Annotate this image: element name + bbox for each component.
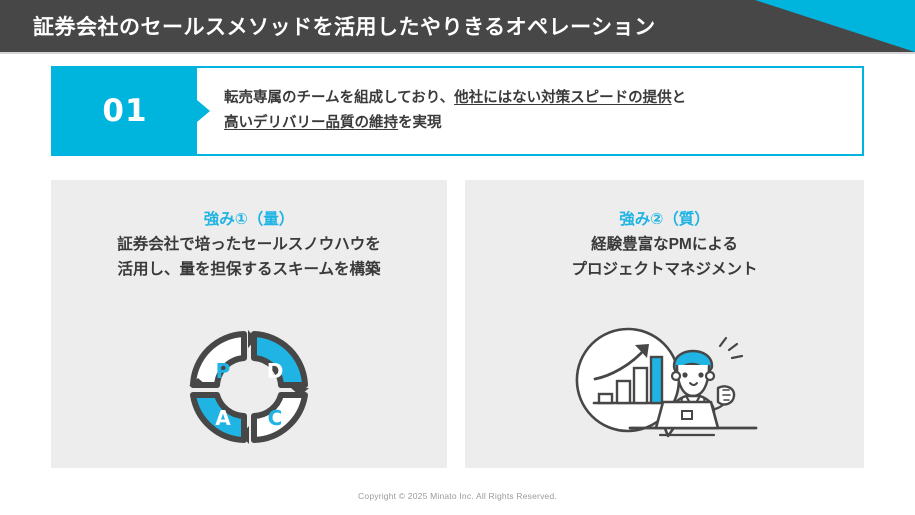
header-divider [0,52,915,54]
lead-line2-underlined: 高いデリバリー品質の維持 [224,115,398,131]
strength-card-2: 強み②（質） 経験豊富なPMによる プロジェクトマネジメント [465,180,864,468]
lead-line2-plain: を実現 [398,115,442,131]
pdca-cycle-icon: P D C A [187,328,311,446]
strength-card-1-body-line-2: 活用し、量を担保するスキームを構築 [51,257,447,282]
lead-callout-box: 01 転売専属のチームを組成しており、他社にはない対策スピードの提供と 高いデリ… [51,66,864,156]
lead-arrow-icon [197,100,210,122]
lead-number-label: 01 [102,96,147,127]
lead-line1-plain-b: と [672,90,687,106]
footer-copyright: Copyright © 2025 Minato Inc. All Rights … [0,491,915,501]
lead-number-badge: 01 [53,68,197,154]
header-bar: 証券会社のセールスメソッドを活用したやりきるオペレーション [0,0,915,52]
pdca-letter-d: D [267,359,284,383]
strength-card-1-art: P D C A [51,328,447,446]
strength-card-2-body: 経験豊富なPMによる プロジェクトマネジメント [465,232,864,282]
pdca-letter-c: C [268,406,283,430]
strength-card-2-heading: 強み②（質） [465,209,864,231]
lead-text-line-2: 高いデリバリー品質の維持を実現 [224,111,852,136]
strength-card-1-body: 証券会社で培ったセールスノウハウを 活用し、量を担保するスキームを構築 [51,232,447,282]
lead-text-line-1: 転売専属のチームを組成しており、他社にはない対策スピードの提供と [224,86,852,111]
strength-card-1: 強み①（量） 証券会社で培ったセールスノウハウを 活用し、量を担保するスキームを… [51,180,447,468]
pdca-letter-p: P [216,359,231,383]
page-title: 証券会社のセールスメソッドを活用したやりきるオペレーション [33,0,656,52]
slide: 証券会社のセールスメソッドを活用したやりきるオペレーション 01 転売専属のチー… [0,0,915,515]
strength-card-1-body-line-1: 証券会社で培ったセールスノウハウを [51,232,447,257]
strength-card-1-heading: 強み①（量） [51,209,447,231]
lead-line1-plain-a: 転売専属のチームを組成しており、 [224,90,454,106]
pm-person-chart-icon [572,324,758,446]
lead-text: 転売専属のチームを組成しており、他社にはない対策スピードの提供と 高いデリバリー… [224,68,852,154]
strength-card-2-body-line-2: プロジェクトマネジメント [465,257,864,282]
pdca-letter-a: A [215,406,231,430]
lead-line1-underlined: 他社にはない対策スピードの提供 [454,90,672,106]
strength-card-2-art [465,324,864,446]
strength-card-2-body-line-1: 経験豊富なPMによる [465,232,864,257]
header-accent-triangle [755,0,915,52]
